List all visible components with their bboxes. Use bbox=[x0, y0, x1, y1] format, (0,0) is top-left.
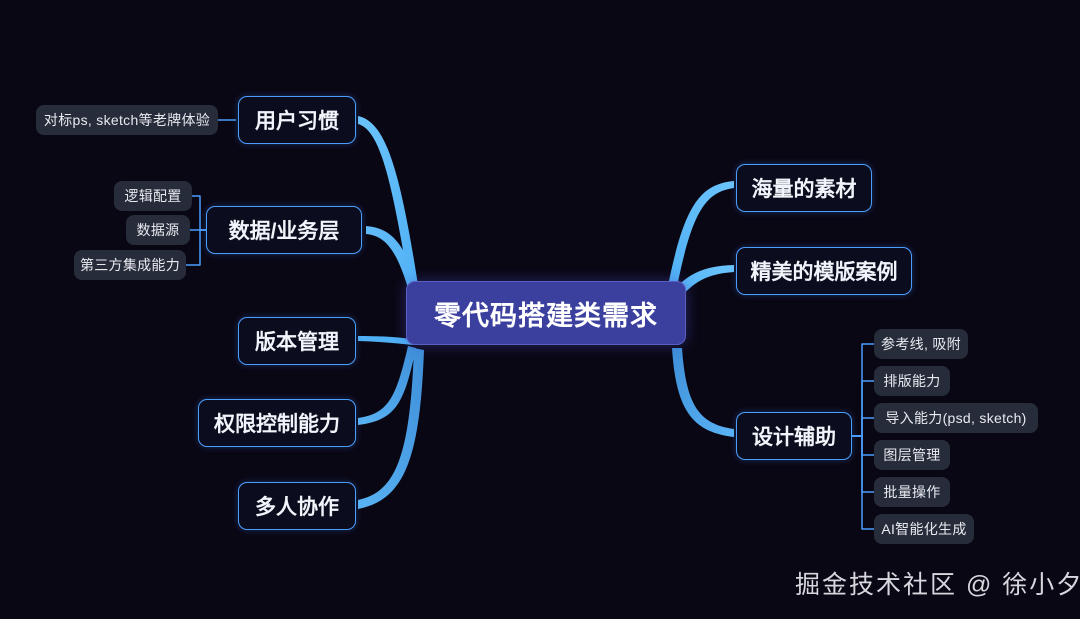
mindmap-canvas: 零代码搭建类需求 用户习惯 数据/业务层 版本管理 权限控制能力 多人协作 对标… bbox=[0, 0, 1080, 619]
branch-label: 海量的素材 bbox=[752, 173, 857, 203]
edge-shejifuzhu-to-leaf-0 bbox=[852, 344, 874, 436]
leaf-node-disanfangjichengnengli[interactable]: 第三方集成能力 bbox=[74, 250, 186, 280]
leaf-label: 数据源 bbox=[137, 220, 180, 240]
leaf-label: AI智能化生成 bbox=[881, 519, 966, 539]
edge-root-to-yonghuxiguan bbox=[358, 116, 418, 292]
edge-root-to-duorenxiezuo bbox=[358, 348, 424, 509]
watermark-text: 掘金技术社区 @ 徐小夕 bbox=[795, 571, 1080, 599]
watermark: 掘金技术社区 @ 徐小夕 bbox=[795, 565, 1080, 601]
branch-label: 数据/业务层 bbox=[229, 215, 340, 245]
branch-node-shejifuzhu[interactable]: 设计辅助 bbox=[736, 412, 852, 460]
edge-shejifuzhu-to-leaf-3 bbox=[852, 436, 874, 455]
leaf-label: 第三方集成能力 bbox=[80, 255, 180, 275]
leaf-label: 对标ps, sketch等老牌体验 bbox=[44, 110, 210, 130]
branch-node-hailiangdesucai[interactable]: 海量的素材 bbox=[736, 164, 872, 212]
leaf-node-piliangcaozuo[interactable]: 批量操作 bbox=[874, 477, 950, 507]
branch-node-shujuyewuceng[interactable]: 数据/业务层 bbox=[206, 206, 362, 254]
edge-root-to-shejifuzhu bbox=[672, 348, 734, 437]
edge-shejifuzhu-to-leaf-1 bbox=[852, 381, 874, 436]
leaf-label: 排版能力 bbox=[883, 371, 940, 391]
leaf-node-ai-zhinenghuashengcheng[interactable]: AI智能化生成 bbox=[874, 514, 974, 544]
leaf-node-paibannengli[interactable]: 排版能力 bbox=[874, 366, 950, 396]
leaf-node-cankaoxian-xifu[interactable]: 参考线, 吸附 bbox=[874, 329, 968, 359]
branch-label: 精美的模版案例 bbox=[751, 256, 898, 286]
branch-label: 权限控制能力 bbox=[214, 408, 340, 438]
branch-node-banbenguanli[interactable]: 版本管理 bbox=[238, 317, 356, 365]
leaf-label: 图层管理 bbox=[883, 445, 940, 465]
edge-root-to-quanxiankongzhi bbox=[358, 346, 416, 425]
branch-node-quanxiankongzhinengli[interactable]: 权限控制能力 bbox=[198, 399, 356, 447]
leaf-label: 参考线, 吸附 bbox=[881, 334, 961, 354]
leaf-node-luojipeizhi[interactable]: 逻辑配置 bbox=[114, 181, 192, 211]
branch-label: 多人协作 bbox=[255, 491, 339, 521]
branch-label: 版本管理 bbox=[255, 326, 339, 356]
edge-shujuyewuceng-to-leaf-0 bbox=[192, 196, 206, 230]
edge-shejifuzhu-to-leaf-5 bbox=[852, 436, 874, 529]
leaf-node-daorunengli[interactable]: 导入能力(psd, sketch) bbox=[874, 403, 1038, 433]
edge-shejifuzhu-to-leaf-2 bbox=[852, 418, 874, 436]
branch-node-duorenxiezuo[interactable]: 多人协作 bbox=[238, 482, 356, 530]
leaf-node-tuocengguanli[interactable]: 图层管理 bbox=[874, 440, 950, 470]
leaf-node-shujuyuan[interactable]: 数据源 bbox=[126, 215, 190, 245]
branch-node-jingmeidemobananli[interactable]: 精美的模版案例 bbox=[736, 247, 912, 295]
branch-label: 设计辅助 bbox=[752, 421, 836, 451]
leaf-label: 逻辑配置 bbox=[124, 186, 181, 206]
edge-shejifuzhu-to-leaf-4 bbox=[852, 436, 874, 492]
branch-label: 用户习惯 bbox=[255, 105, 339, 135]
root-node-label: 零代码搭建类需求 bbox=[434, 294, 658, 333]
edge-root-to-hailiangdesucai bbox=[668, 181, 734, 292]
leaf-label: 批量操作 bbox=[883, 482, 940, 502]
branch-node-yonghuxiguan[interactable]: 用户习惯 bbox=[238, 96, 356, 144]
root-node[interactable]: 零代码搭建类需求 bbox=[406, 281, 686, 345]
leaf-node-duibiao-ps-sketch[interactable]: 对标ps, sketch等老牌体验 bbox=[36, 105, 218, 135]
leaf-label: 导入能力(psd, sketch) bbox=[885, 408, 1026, 428]
